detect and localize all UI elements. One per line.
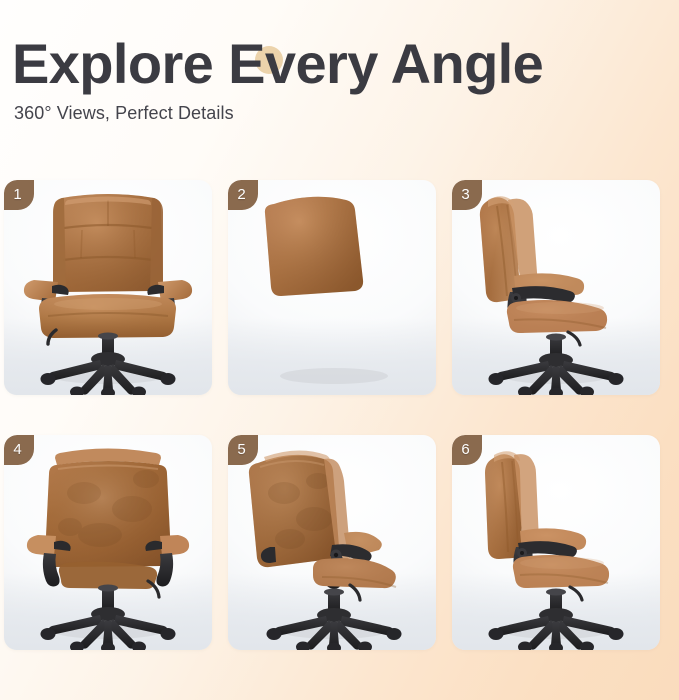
gallery-panel[interactable]: 2 bbox=[228, 180, 436, 395]
chair-image-back-three-quarter bbox=[228, 435, 436, 650]
chair-image-side-right bbox=[452, 435, 660, 650]
infographic-canvas: Explore Every Angle 360° Views, Perfect … bbox=[0, 0, 679, 700]
page-subtitle: 360° Views, Perfect Details bbox=[14, 103, 672, 124]
gallery-panel[interactable]: 5 bbox=[228, 435, 436, 650]
chair-image-side-left bbox=[452, 180, 660, 395]
page-title: Explore Every Angle bbox=[12, 34, 672, 94]
gallery-panel[interactable]: 4 bbox=[4, 435, 212, 650]
header: Explore Every Angle 360° Views, Perfect … bbox=[12, 34, 672, 124]
chair-image-front bbox=[4, 180, 212, 395]
product-gallery-grid: 1 bbox=[4, 180, 675, 650]
gallery-panel[interactable]: 6 bbox=[452, 435, 660, 650]
chair-image-front-three-quarter-left bbox=[228, 180, 436, 395]
gallery-panel[interactable]: 3 bbox=[452, 180, 660, 395]
chair-image-back bbox=[4, 435, 212, 650]
gallery-panel[interactable]: 1 bbox=[4, 180, 212, 395]
